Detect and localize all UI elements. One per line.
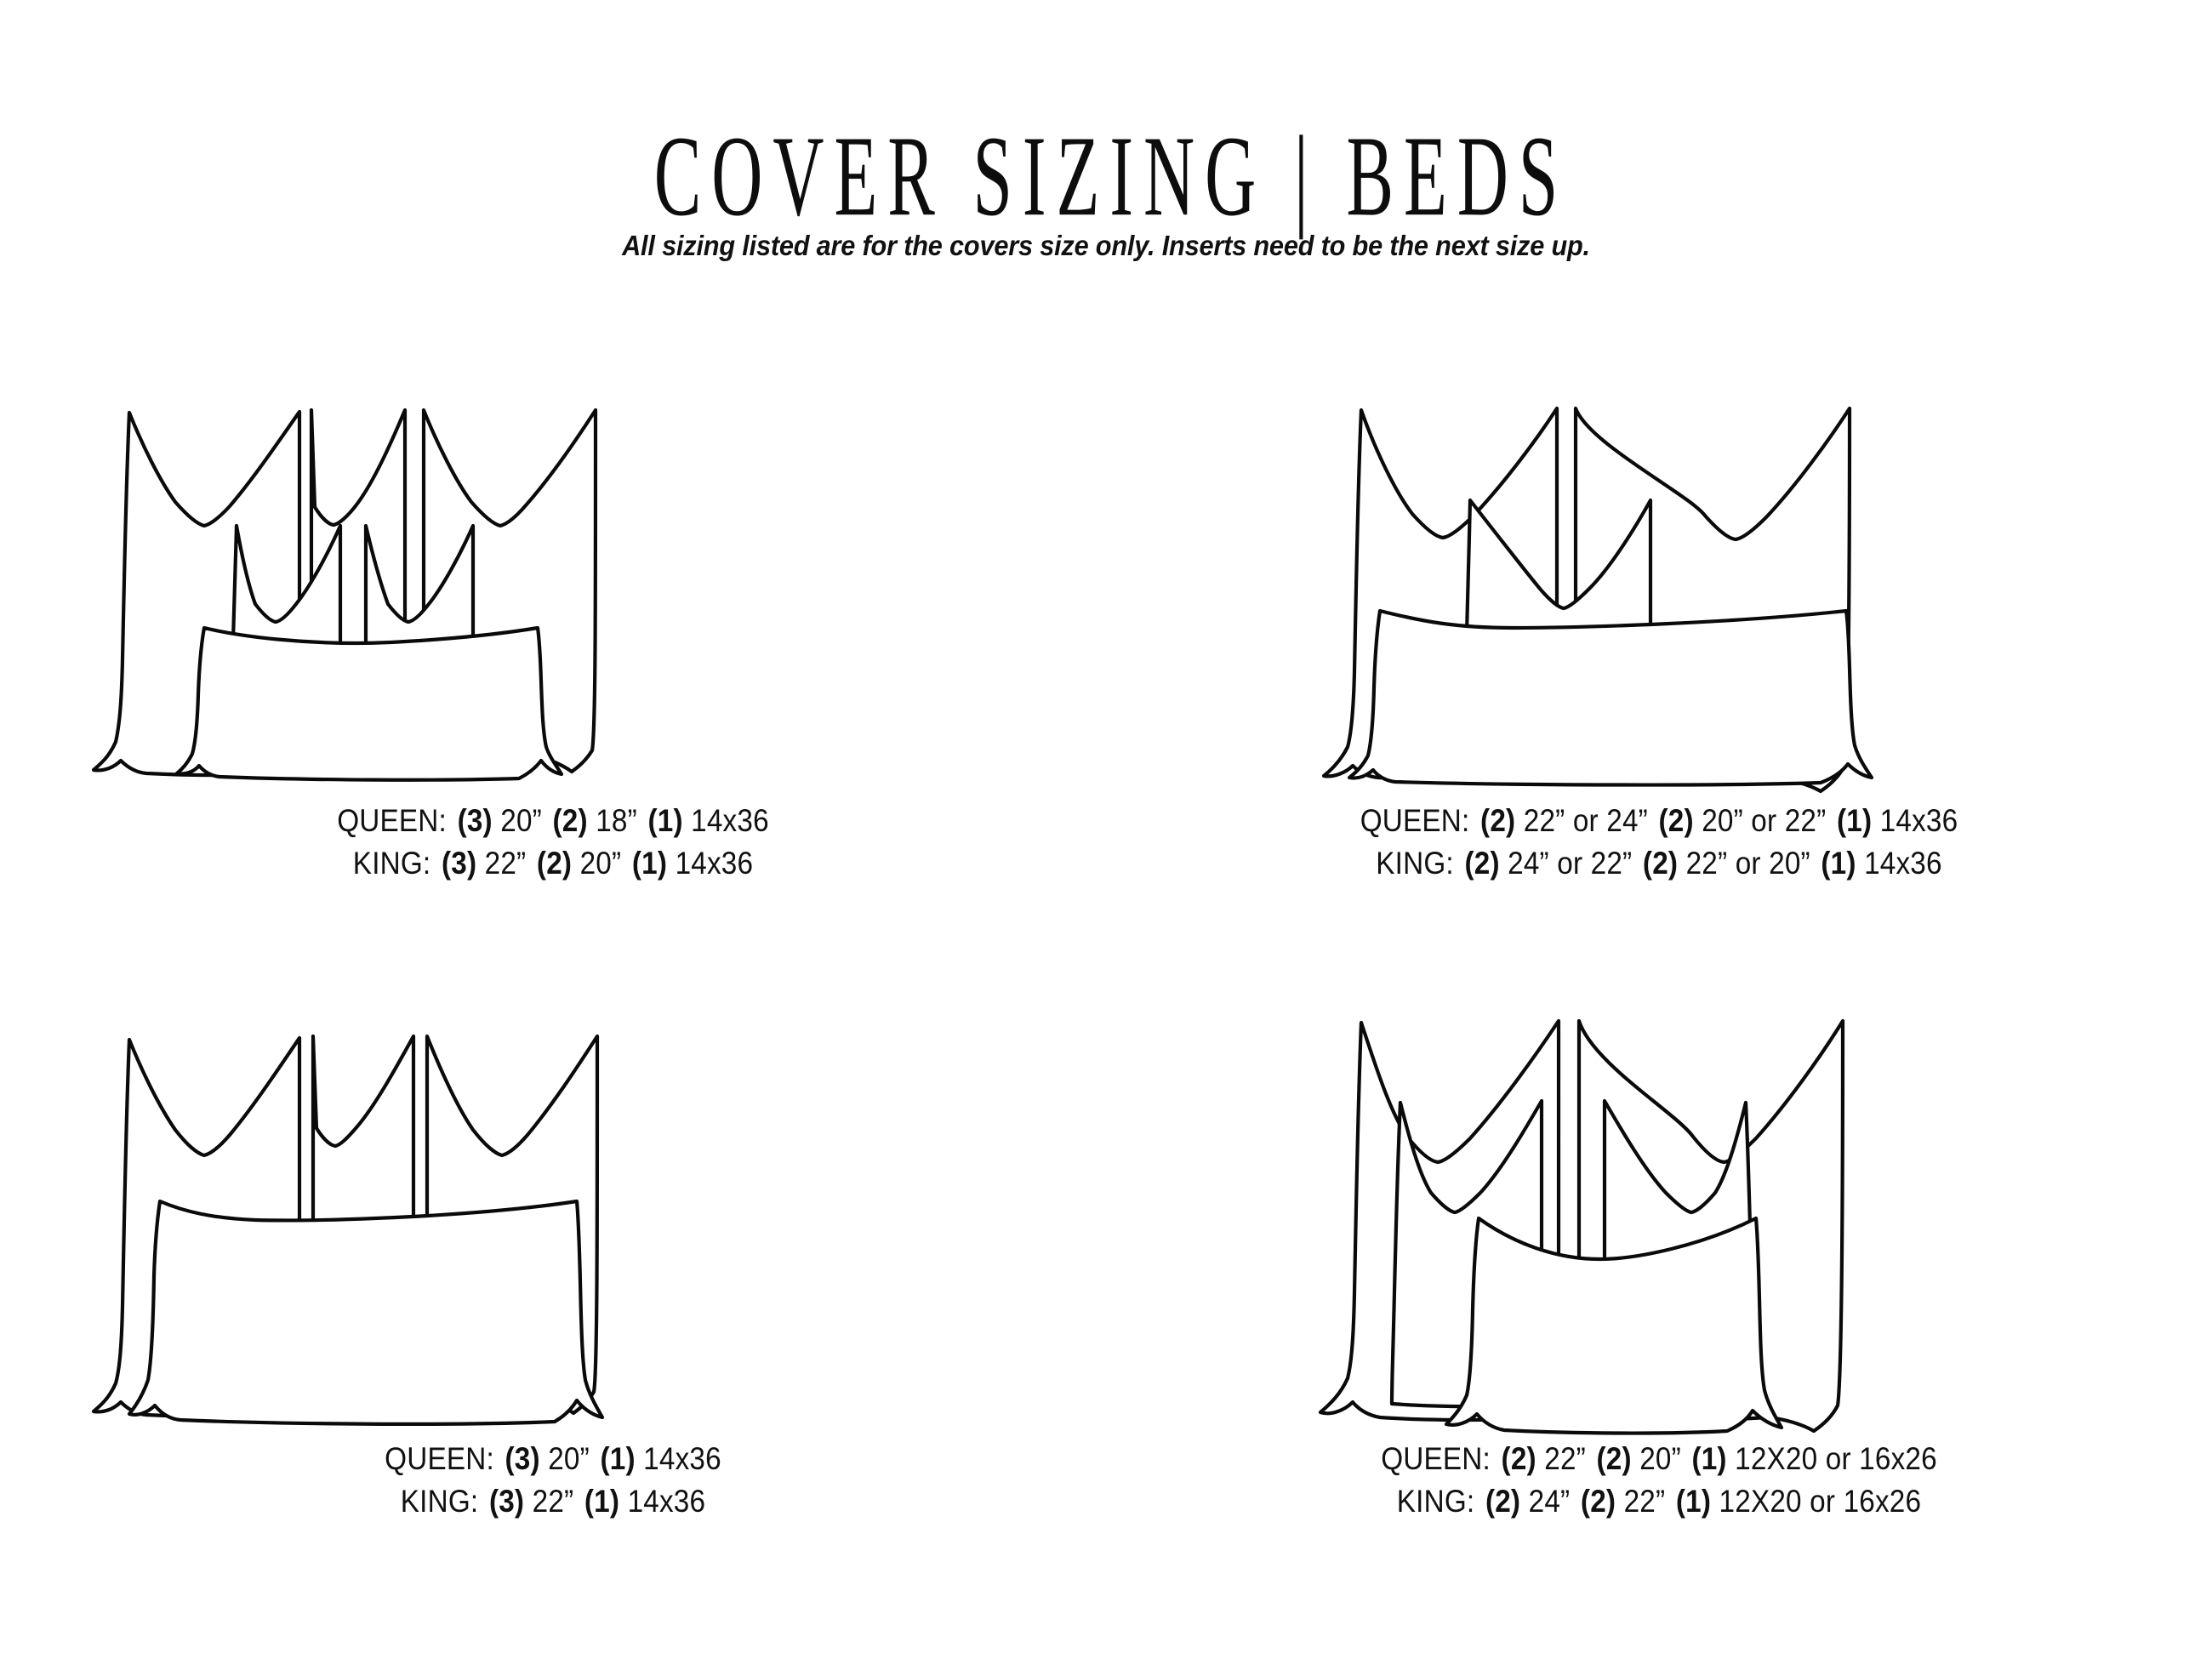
spec-value: 14x36: [643, 1441, 721, 1476]
spec-qty: (2): [1502, 1441, 1536, 1476]
spec-qty: (2): [1485, 1484, 1520, 1519]
size-label: KING:: [1376, 846, 1454, 881]
size-label: QUEEN:: [1381, 1441, 1491, 1476]
spec-value: 18”: [596, 803, 637, 838]
spec-qty: (3): [489, 1484, 524, 1519]
spec-qty: (2): [1581, 1484, 1616, 1519]
spec-value: 20”: [1639, 1441, 1681, 1476]
spec-value: 14x36: [628, 1484, 706, 1519]
size-label: QUEEN:: [1360, 803, 1470, 838]
pillow-illustration-top-left: [0, 357, 1106, 808]
page-subtitle: All sizing listed are for the covers siz…: [77, 180, 2135, 262]
arrangement-top-left: QUEEN:(3) 20”(2) 18”(1) 14x36 KING:(3) 2…: [0, 357, 1106, 919]
arrangement-top-right: QUEEN:(2) 22” or 24”(2) 20” or 22”(1) 14…: [1106, 357, 2212, 919]
spec-qty: (1): [1691, 1441, 1726, 1476]
spec-qty: (1): [632, 846, 667, 881]
size-label: QUEEN:: [337, 803, 447, 838]
size-label: KING:: [353, 846, 431, 881]
pillow-illustration-bottom-left: [0, 995, 1106, 1446]
spec-qty: (1): [1837, 803, 1872, 838]
spec-qty: (2): [553, 803, 588, 838]
caption-top-left: QUEEN:(3) 20”(2) 18”(1) 14x36 KING:(3) 2…: [0, 800, 1106, 886]
caption-line-queen: QUEEN:(2) 22”(2) 20”(1) 12X20 or 16x26: [1161, 1438, 2157, 1480]
spec-value: 24”: [1529, 1484, 1571, 1519]
spec-qty: (1): [600, 1441, 635, 1476]
spec-qty: (2): [1480, 803, 1515, 838]
spec-value: 14x36: [676, 846, 754, 881]
spec-value: 22”: [1544, 1441, 1586, 1476]
caption-line-queen: QUEEN:(3) 20”(1) 14x36: [55, 1438, 1051, 1480]
caption-line-king: KING:(3) 22”(1) 14x36: [55, 1480, 1051, 1523]
caption-line-king: KING:(2) 24”(2) 22”(1) 12X20 or 16x26: [1161, 1480, 2157, 1523]
arrangement-bottom-left: QUEEN:(3) 20”(1) 14x36 KING:(3) 22”(1) 1…: [0, 995, 1106, 1557]
pillow-illustration-bottom-right: [1106, 995, 2212, 1446]
spec-qty: (3): [505, 1441, 540, 1476]
pillow-illustration-top-right: [1106, 357, 2212, 808]
caption-line-king: KING:(2) 24” or 22”(2) 22” or 20”(1) 14x…: [1161, 842, 2157, 885]
spec-value: 22” or 24”: [1524, 803, 1648, 838]
spec-value: 20” or 22”: [1702, 803, 1826, 838]
spec-value: 20”: [548, 1441, 590, 1476]
spec-qty: (1): [647, 803, 682, 838]
caption-line-king: KING:(3) 22”(2) 20”(1) 14x36: [55, 842, 1051, 885]
spec-value: 22”: [1624, 1484, 1666, 1519]
caption-line-queen: QUEEN:(3) 20”(2) 18”(1) 14x36: [55, 800, 1051, 842]
spec-value: 14x36: [1880, 803, 1958, 838]
sizing-guide-page: COVER SIZING | BEDS All sizing listed ar…: [0, 0, 2212, 1659]
spec-qty: (3): [442, 846, 476, 881]
spec-qty: (3): [458, 803, 493, 838]
page-header: COVER SIZING | BEDS All sizing listed ar…: [0, 0, 2212, 262]
spec-qty: (2): [1659, 803, 1694, 838]
spec-qty: (1): [584, 1484, 619, 1519]
spec-value: 14x36: [1864, 846, 1942, 881]
spec-value: 20”: [580, 846, 622, 881]
spec-qty: (2): [1597, 1441, 1632, 1476]
spec-qty: (2): [1643, 846, 1678, 881]
spec-value: 14x36: [691, 803, 769, 838]
arrangement-bottom-right: QUEEN:(2) 22”(2) 20”(1) 12X20 or 16x26 K…: [1106, 995, 2212, 1557]
spec-qty: (1): [1821, 846, 1856, 881]
spec-value: 24” or 22”: [1508, 846, 1632, 881]
size-label: KING:: [1397, 1484, 1475, 1519]
size-label: KING:: [401, 1484, 479, 1519]
caption-bottom-right: QUEEN:(2) 22”(2) 20”(1) 12X20 or 16x26 K…: [1106, 1438, 2212, 1524]
spec-value: 12X20 or 16x26: [1735, 1441, 1937, 1476]
spec-value: 22” or 20”: [1686, 846, 1810, 881]
caption-bottom-left: QUEEN:(3) 20”(1) 14x36 KING:(3) 22”(1) 1…: [0, 1438, 1106, 1524]
size-label: QUEEN:: [385, 1441, 494, 1476]
spec-value: 12X20 or 16x26: [1719, 1484, 1922, 1519]
spec-qty: (1): [1676, 1484, 1711, 1519]
caption-line-queen: QUEEN:(2) 22” or 24”(2) 20” or 22”(1) 14…: [1161, 800, 2157, 842]
spec-qty: (2): [537, 846, 572, 881]
caption-top-right: QUEEN:(2) 22” or 24”(2) 20” or 22”(1) 14…: [1106, 800, 2212, 886]
spec-value: 22”: [485, 846, 527, 881]
spec-value: 22”: [533, 1484, 574, 1519]
spec-qty: (2): [1464, 846, 1499, 881]
spec-value: 20”: [500, 803, 542, 838]
